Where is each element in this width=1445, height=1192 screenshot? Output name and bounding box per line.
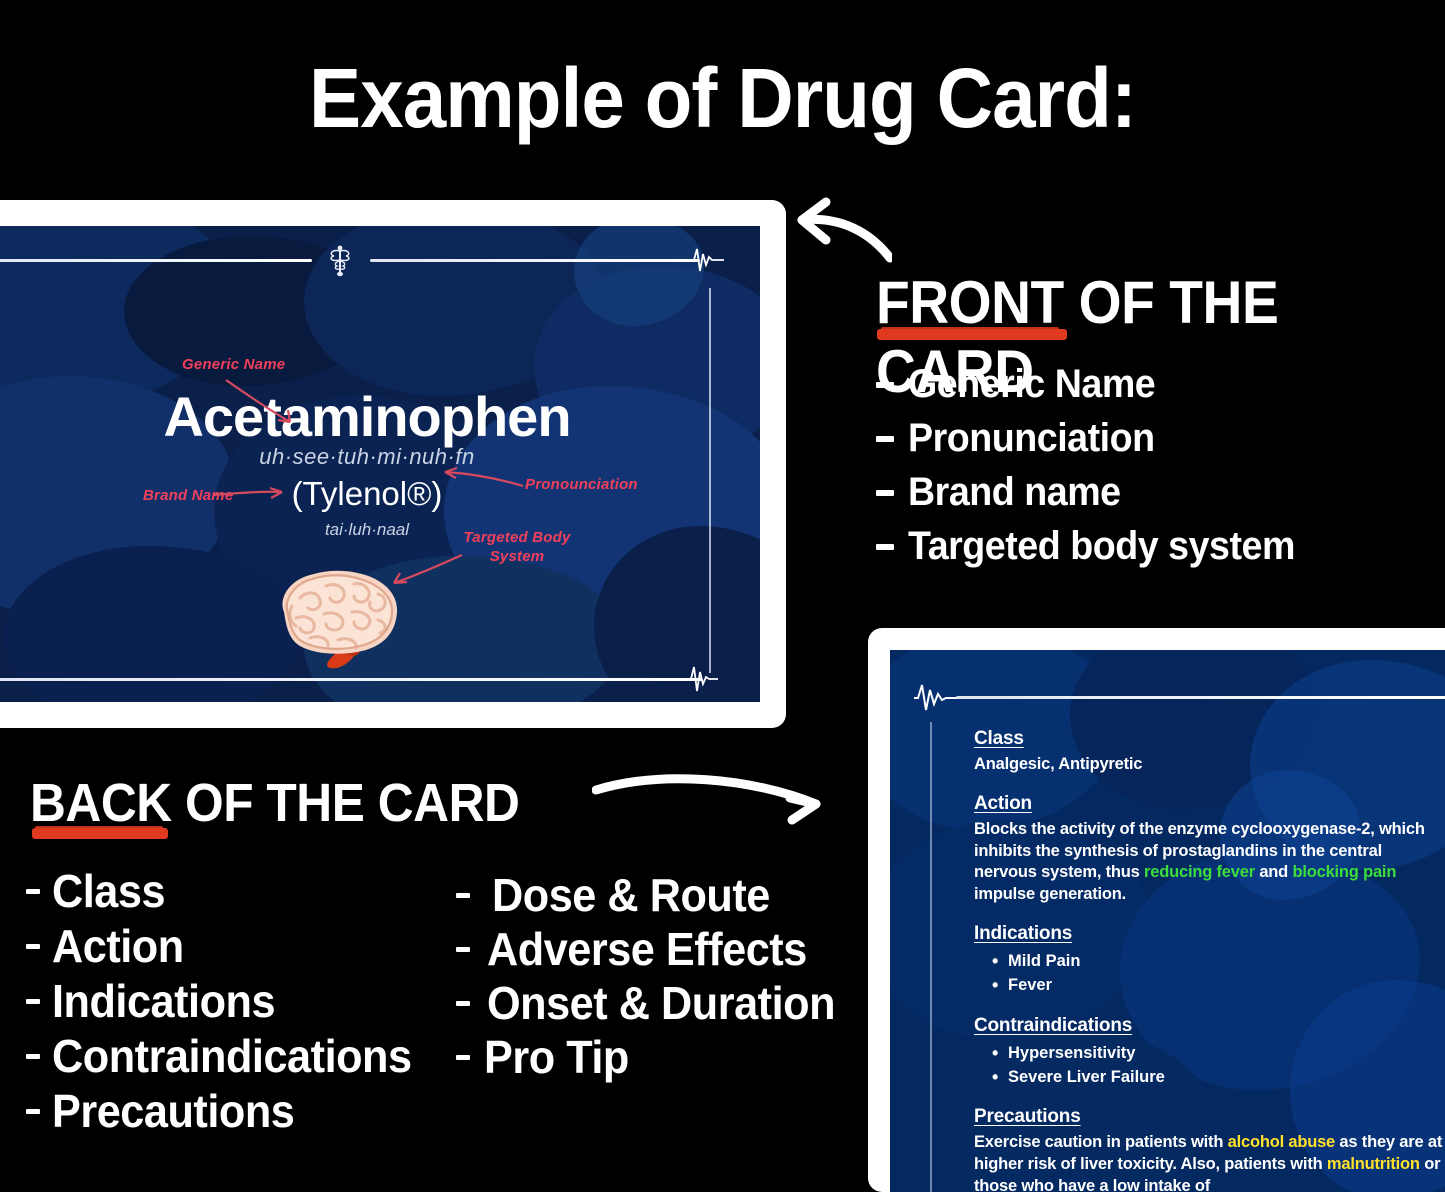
front-bullet-label: Generic Name [908,362,1155,407]
annotation-arrow-generic [224,378,316,430]
back-bullet-label: Dose & Route [492,868,770,922]
back-contraindications-list: Hypersensitivity Severe Liver Failure [992,1041,1444,1090]
front-bullet-1: Pronunciation [876,416,1170,461]
list-item: Mild Pain [992,949,1444,973]
page-title: Example of Drug Card: [51,56,1395,140]
back-section-heading: BACK OF THE CARD [30,772,519,834]
bullet-dash [26,1109,40,1114]
back-bullet-label: Adverse Effects [487,922,807,976]
front-bullet-3: Targeted body system [876,524,1320,569]
back-bullet-left-4: Precautions [26,1084,310,1138]
back-class-heading: Class [974,728,1444,750]
annotation-targeted-line2: System [490,548,545,565]
back-top-rail [956,696,1445,699]
bullet-dash [876,382,894,388]
ekg-heartbeat-icon-top-right [690,245,724,275]
back-bullet-label: Precautions [52,1084,294,1138]
back-bullet-label: Onset & Duration [487,976,835,1030]
annotation-arrow-targeted [390,553,464,589]
back-bullet-left-3: Contraindications [26,1029,435,1083]
drug-brand-name: (Tylenol®) [0,475,760,513]
back-bullet-right-1: Adverse Effects [456,922,827,976]
back-bullet-label: Action [52,919,184,973]
front-section-underline [877,329,1067,340]
front-bullet-0: Generic Name [876,362,1171,407]
action-text-part2: and [1255,863,1293,881]
back-left-accent-rail [930,722,932,1192]
bullet-dash [26,944,40,949]
annotation-arrow-pronounciation [441,466,525,492]
back-action-text: Blocks the activity of the enzyme cycloo… [974,819,1444,906]
back-bullet-left-1: Action [26,919,192,973]
action-highlight-reducing-fever: reducing fever [1144,863,1255,881]
bullet-dash [456,893,470,898]
bullet-dash [456,947,470,952]
precautions-text-part1: Exercise caution in patients with [974,1133,1228,1151]
back-contraindications-heading: Contraindications [974,1015,1444,1037]
list-item: Fever [992,973,1444,997]
poster-root: Example of Drug Card: [0,0,1445,1192]
list-item: Hypersensitivity [992,1041,1444,1065]
back-card-content: Class Analgesic, Antipyretic Action Bloc… [974,728,1444,1192]
drug-generic-name: Acetaminophen [0,384,760,449]
back-bullet-right-2: Onset & Duration [456,976,857,1030]
top-rail-left [0,259,312,262]
curved-arrow-to-back-card [592,772,832,832]
action-highlight-blocking-pain: blocking pain [1292,863,1396,881]
front-bullet-2: Brand name [876,470,1134,515]
back-action-heading: Action [974,793,1444,815]
ekg-heartbeat-icon-bottom-right [688,664,718,694]
annotation-arrow-brand [214,485,286,503]
back-precautions-text: Exercise caution in patients with alcoho… [974,1132,1444,1192]
bottom-rail [0,678,702,681]
back-bullet-label: Contraindications [52,1029,412,1083]
precautions-highlight-alcohol-abuse: alcohol abuse [1228,1133,1335,1151]
bullet-dash [26,889,40,894]
drug-brand-phonetic: tai·luh·naal [0,520,760,540]
back-indications-heading: Indications [974,923,1444,945]
drug-phonetic: uh·see·tuh·mi·nuh·fn [0,444,760,470]
back-bullet-left-2: Indications [26,974,289,1028]
bullet-dash [26,1054,40,1059]
annotation-pronounciation: Pronounciation [525,476,638,495]
back-section-underline [32,828,168,839]
bullet-dash [456,1001,470,1006]
back-bullet-right-3: Pro Tip [456,1030,638,1084]
top-rail-right [370,259,700,262]
back-class-value: Analgesic, Antipyretic [974,754,1444,776]
front-bullet-label: Brand name [908,470,1121,515]
list-item: Severe Liver Failure [992,1065,1444,1089]
ekg-heartbeat-icon-back-top [914,680,960,714]
back-bullet-label: Indications [52,974,275,1028]
back-bullet-label: Class [52,864,165,918]
bullet-dash [876,436,894,442]
back-bullet-right-0: Dose & Route [456,868,788,922]
back-card: Class Analgesic, Antipyretic Action Bloc… [890,650,1445,1192]
annotation-targeted-body-system: Targeted Body System [452,529,582,567]
curved-arrow-to-front-card [782,196,892,274]
bullet-dash [876,544,894,550]
bullet-dash [26,999,40,1004]
bullet-dash [456,1055,470,1060]
action-text-part3: impulse generation. [974,885,1126,903]
bullet-dash [876,490,894,496]
annotation-targeted-line1: Targeted Body [463,529,570,546]
annotation-generic-name: Generic Name [182,356,285,375]
front-card: Acetaminophen uh·see·tuh·mi·nuh·fn (Tyle… [0,226,760,702]
back-indications-list: Mild Pain Fever [992,949,1444,998]
precautions-highlight-malnutrition: malnutrition [1327,1155,1420,1173]
front-bullet-label: Pronunciation [908,416,1155,461]
caduceus-icon [326,243,354,279]
back-precautions-heading: Precautions [974,1106,1444,1128]
back-bullet-left-0: Class [26,864,172,918]
front-bullet-label: Targeted body system [908,524,1295,569]
back-bullet-label: Pro Tip [484,1030,629,1084]
